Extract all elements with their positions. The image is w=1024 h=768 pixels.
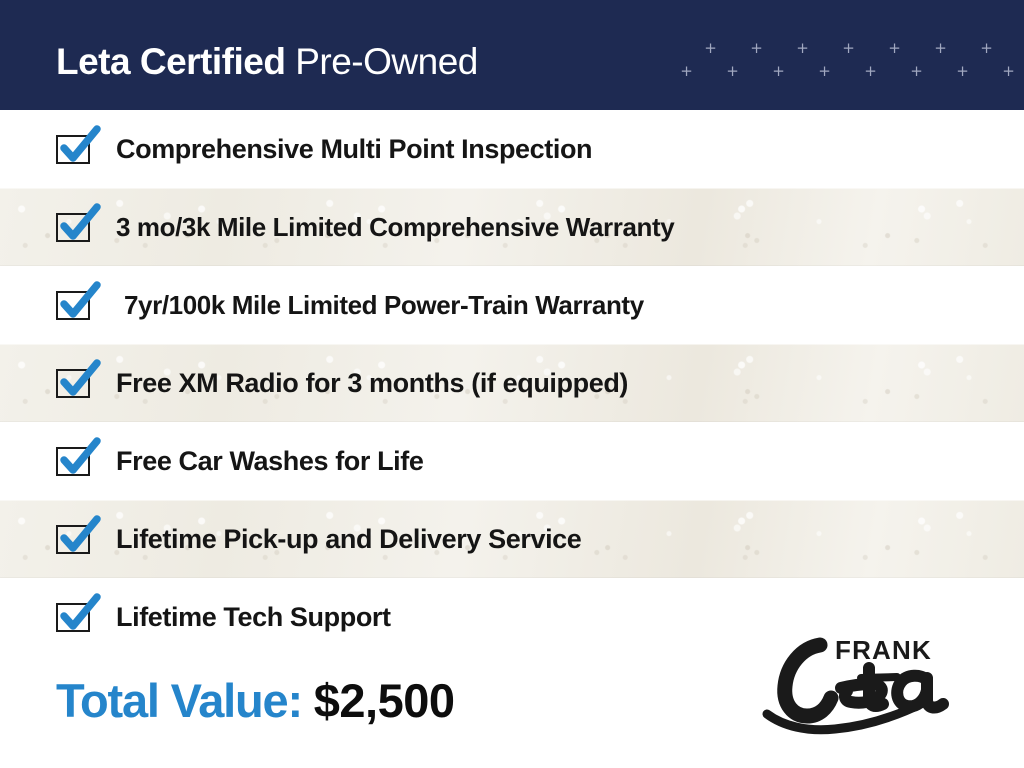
page-title-strong: Leta Certified (56, 41, 285, 82)
benefit-label: Comprehensive Multi Point Inspection (116, 133, 592, 165)
frank-leta-logo: FRANK (757, 628, 957, 738)
plus-icon-top-6: + (980, 42, 993, 55)
plus-icon-bottom-7: + (1002, 65, 1015, 78)
page-title-light: Pre-Owned (285, 41, 477, 82)
checkbox-checked-icon[interactable] (56, 291, 90, 320)
benefit-row[interactable]: Free XM Radio for 3 months (if equipped) (0, 344, 1024, 422)
checkbox-checked-icon[interactable] (56, 525, 90, 554)
checkbox-checked-icon[interactable] (56, 369, 90, 398)
benefit-label: Free Car Washes for Life (116, 445, 424, 477)
plus-icon-top-4: + (888, 42, 901, 55)
checkbox-checked-icon[interactable] (56, 603, 90, 632)
certified-pre-owned-flyer: Leta Certified Pre-Owned +++++++++++++++… (0, 0, 1024, 768)
plus-icon-bottom-3: + (818, 65, 831, 78)
plus-icon-bottom-1: + (726, 65, 739, 78)
plus-icon-bottom-0: + (680, 65, 693, 78)
checkbox-checked-icon[interactable] (56, 447, 90, 476)
plus-icon-top-2: + (796, 42, 809, 55)
plus-icon-top-3: + (842, 42, 855, 55)
benefit-row[interactable]: Lifetime Pick-up and Delivery Service (0, 500, 1024, 578)
plus-icon-bottom-4: + (864, 65, 877, 78)
total-value-line: Total Value: $2,500 (56, 672, 455, 730)
plus-icon-top-5: + (934, 42, 947, 55)
benefit-label: Lifetime Tech Support (116, 601, 391, 633)
total-value-amount: $2,500 (314, 674, 455, 727)
benefit-label: Free XM Radio for 3 months (if equipped) (116, 367, 628, 399)
plus-icon-bottom-2: + (772, 65, 785, 78)
benefit-label: Lifetime Pick-up and Delivery Service (116, 523, 581, 555)
benefit-row[interactable]: Free Car Washes for Life (0, 422, 1024, 500)
header-banner: Leta Certified Pre-Owned +++++++++++++++ (0, 0, 1024, 110)
benefit-label: 3 mo/3k Mile Limited Comprehensive Warra… (116, 211, 674, 243)
plus-icon-bottom-5: + (910, 65, 923, 78)
total-value-label: Total Value: (56, 674, 302, 727)
benefit-label: 7yr/100k Mile Limited Power-Train Warran… (124, 289, 644, 321)
benefit-row[interactable]: 3 mo/3k Mile Limited Comprehensive Warra… (0, 188, 1024, 266)
checkbox-checked-icon[interactable] (56, 135, 90, 164)
plus-icon-top-1: + (750, 42, 763, 55)
plus-icon-top-0: + (704, 42, 717, 55)
plus-icon-bottom-6: + (956, 65, 969, 78)
plus-pattern-decoration: +++++++++++++++ (672, 42, 1012, 94)
benefit-row[interactable]: 7yr/100k Mile Limited Power-Train Warran… (0, 266, 1024, 344)
benefit-row[interactable]: Comprehensive Multi Point Inspection (0, 110, 1024, 188)
page-title: Leta Certified Pre-Owned (56, 40, 478, 84)
logo-frank-word: FRANK (835, 635, 932, 665)
checkbox-checked-icon[interactable] (56, 213, 90, 242)
